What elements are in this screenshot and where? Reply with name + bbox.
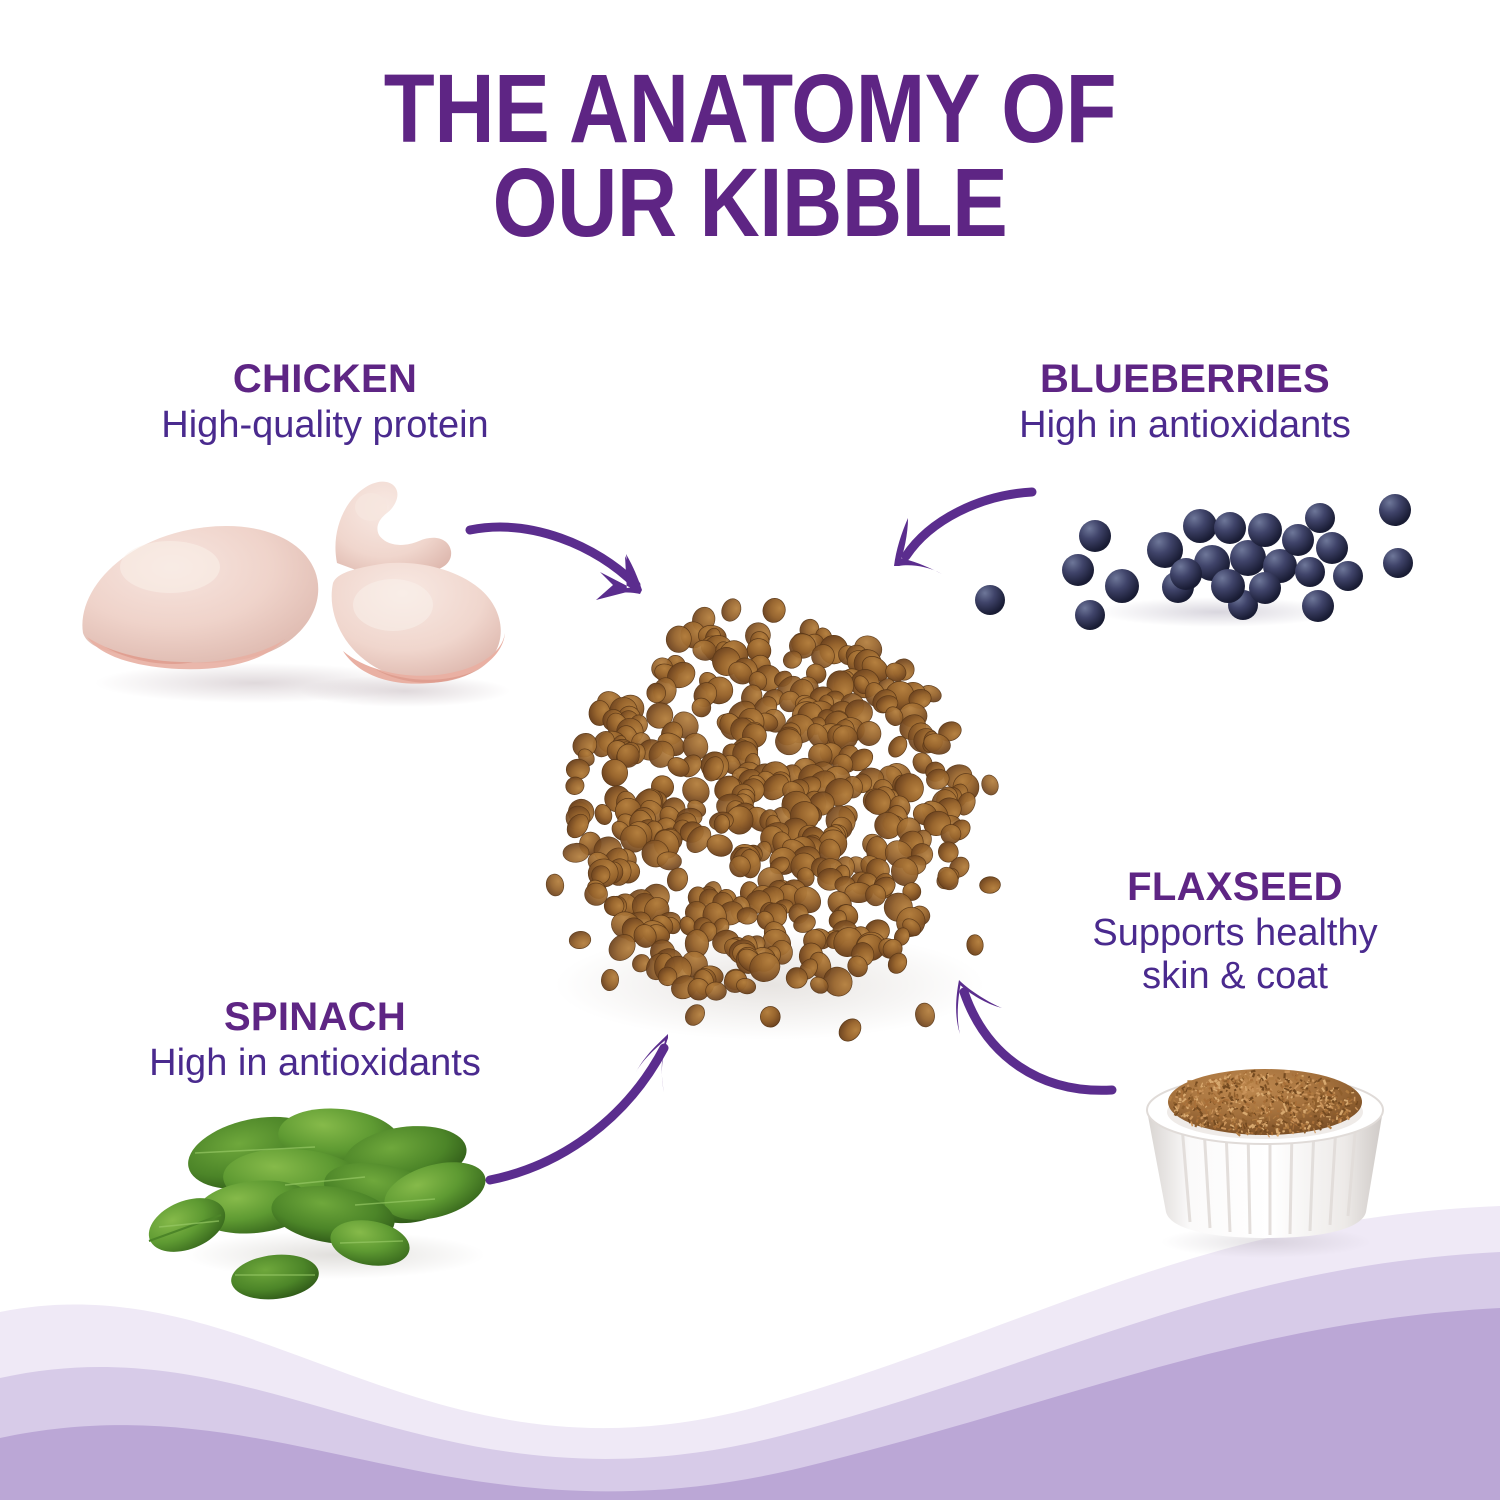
ingredient-name-blueberries: BLUEBERRIES bbox=[920, 358, 1450, 400]
ingredient-desc-flaxseed-line2: skin & coat bbox=[1010, 955, 1460, 998]
ingredient-desc-spinach-line1: High in antioxidants bbox=[149, 1042, 481, 1084]
page-title: THE ANATOMY OF OUR KIBBLE bbox=[105, 62, 1395, 250]
ingredient-name-flaxseed: FLAXSEED bbox=[1010, 866, 1460, 908]
kibble-pile-photo bbox=[520, 585, 1020, 1060]
infographic-canvas: THE ANATOMY OF OUR KIBBLE bbox=[0, 0, 1500, 1500]
ingredient-label-spinach: SPINACH High in antioxidants bbox=[55, 996, 575, 1085]
flaxseed-bowl-photo bbox=[1120, 1030, 1405, 1265]
ingredient-desc-flaxseed-line1: Supports healthy bbox=[1092, 912, 1377, 954]
ingredient-label-chicken: CHICKEN High-quality protein bbox=[60, 358, 590, 447]
blueberries-photo bbox=[960, 488, 1425, 643]
ingredient-name-spinach: SPINACH bbox=[55, 996, 575, 1038]
ingredient-desc-chicken: High-quality protein bbox=[60, 404, 590, 447]
ingredient-desc-spinach: High in antioxidants bbox=[55, 1042, 575, 1085]
chicken-photo bbox=[75, 455, 525, 710]
ingredient-label-flaxseed: FLAXSEED Supports healthy skin & coat bbox=[1010, 866, 1460, 997]
page-title-line-1: THE ANATOMY OF bbox=[105, 62, 1395, 156]
ingredient-label-blueberries: BLUEBERRIES High in antioxidants bbox=[920, 358, 1450, 447]
spinach-photo bbox=[135, 1095, 525, 1310]
ingredient-desc-flaxseed: Supports healthy skin & coat bbox=[1010, 912, 1460, 997]
ingredient-desc-chicken-line1: High-quality protein bbox=[161, 404, 488, 446]
page-title-line-2: OUR KIBBLE bbox=[105, 156, 1395, 250]
ingredient-name-chicken: CHICKEN bbox=[60, 358, 590, 400]
ingredient-desc-blueberries-line1: High in antioxidants bbox=[1019, 404, 1351, 446]
ingredient-desc-blueberries: High in antioxidants bbox=[920, 404, 1450, 447]
